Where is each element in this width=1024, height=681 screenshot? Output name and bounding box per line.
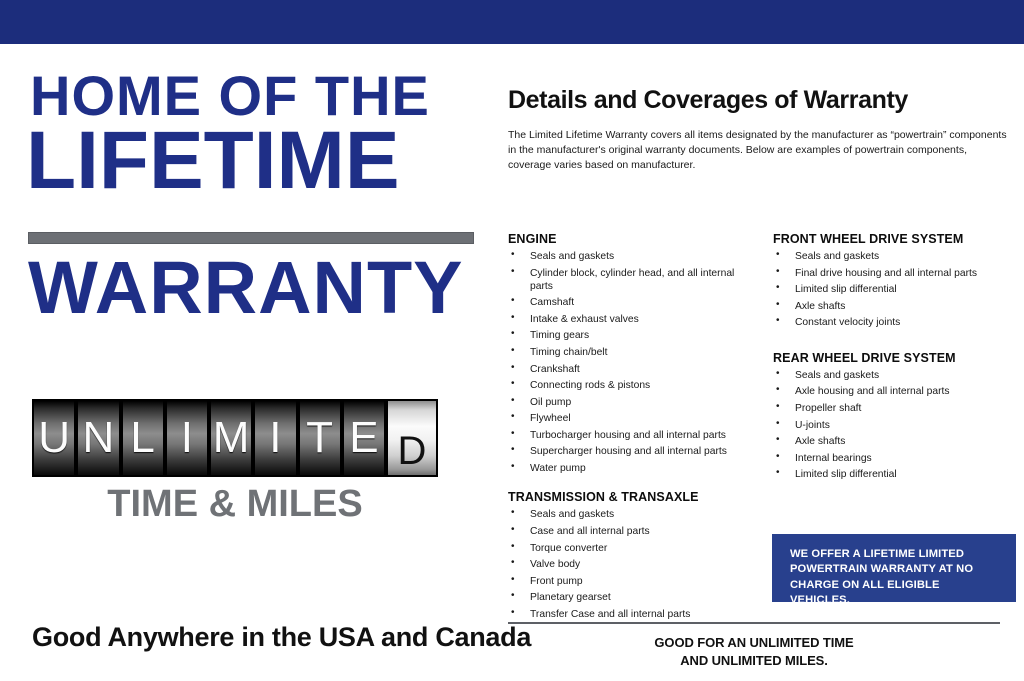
list-item: Seals and gaskets [773, 250, 1021, 263]
odometer-char: E [349, 416, 378, 460]
list-item: Torque converter [508, 542, 758, 555]
list-item: Seals and gaskets [773, 369, 1021, 382]
list-item: Supercharger housing and all internal pa… [508, 445, 758, 458]
callout-text: WE OFFER A LIFETIME LIMITED POWERTRAIN W… [790, 547, 1000, 608]
odometer-cell-rolling: D [386, 401, 438, 475]
section-spacer [773, 333, 1021, 351]
list-item: Water pump [508, 462, 758, 475]
coverage-column-right: FRONT WHEEL DRIVE SYSTEM Seals and gaske… [773, 232, 1021, 485]
odometer-cell: E [342, 401, 386, 475]
odometer-cell: N [76, 401, 120, 475]
section-spacer [508, 478, 758, 490]
section-heading-engine: ENGINE [508, 232, 758, 246]
odometer-cell: U [32, 401, 76, 475]
list-item: Connecting rods & pistons [508, 379, 758, 392]
list-item: U-joints [773, 419, 1021, 432]
top-brand-band [0, 0, 1024, 44]
list-item: Propeller shaft [773, 402, 1021, 415]
list-item: Axle housing and all internal parts [773, 385, 1021, 398]
list-item: Axle shafts [773, 300, 1021, 313]
good-anywhere-tagline: Good Anywhere in the USA and Canada [32, 622, 531, 653]
footer-note-line1: GOOD FOR AN UNLIMITED TIME [508, 634, 1000, 652]
footer-note-line2: AND UNLIMITED MILES. [508, 652, 1000, 670]
odometer-char: D [398, 431, 427, 471]
list-item: Camshaft [508, 296, 758, 309]
hero-headline-line2: LIFETIME [26, 120, 400, 202]
section-list-transmission: Seals and gaskets Case and all internal … [508, 508, 758, 621]
warranty-flyer: HOME OF THE LIFETIME WARRANTY U N L I M … [0, 0, 1024, 681]
list-item: Valve body [508, 558, 758, 571]
odometer-char: U [38, 416, 70, 460]
section-list-fwd: Seals and gaskets Final drive housing an… [773, 250, 1021, 329]
footer-divider-rule [508, 622, 1000, 624]
details-panel: Details and Coverages of Warranty The Li… [500, 44, 1024, 681]
list-item: Turbocharger housing and all internal pa… [508, 429, 758, 442]
section-heading-transmission: TRANSMISSION & TRANSAXLE [508, 490, 758, 504]
hero-panel: HOME OF THE LIFETIME WARRANTY U N L I M … [0, 44, 500, 681]
odometer-cell: I [253, 401, 297, 475]
list-item: Timing gears [508, 329, 758, 342]
odometer-cell: I [165, 401, 209, 475]
callout-box: WE OFFER A LIFETIME LIMITED POWERTRAIN W… [772, 534, 1016, 602]
list-item: Seals and gaskets [508, 508, 758, 521]
list-item: Constant velocity joints [773, 316, 1021, 329]
time-and-miles-label: TIME & MILES [0, 485, 470, 523]
details-title: Details and Coverages of Warranty [508, 86, 908, 115]
odometer-cell: L [121, 401, 165, 475]
list-item: Final drive housing and all internal par… [773, 267, 1021, 280]
odometer-char: M [213, 416, 250, 460]
footer-note: GOOD FOR AN UNLIMITED TIME AND UNLIMITED… [508, 634, 1000, 671]
section-list-rwd: Seals and gaskets Axle housing and all i… [773, 369, 1021, 482]
odometer-char: T [306, 416, 333, 460]
section-heading-rwd: REAR WHEEL DRIVE SYSTEM [773, 351, 1021, 365]
hero-divider-bar [28, 232, 474, 244]
list-item: Limited slip differential [773, 468, 1021, 481]
list-item: Crankshaft [508, 363, 758, 376]
list-item: Timing chain/belt [508, 346, 758, 359]
section-list-engine: Seals and gaskets Cylinder block, cylind… [508, 250, 758, 475]
hero-headline-line3: WARRANTY [28, 251, 464, 325]
section-heading-fwd: FRONT WHEEL DRIVE SYSTEM [773, 232, 1021, 246]
list-item: Intake & exhaust valves [508, 313, 758, 326]
odometer-char: L [130, 416, 154, 460]
list-item: Limited slip differential [773, 283, 1021, 296]
list-item: Flywheel [508, 412, 758, 425]
coverage-column-left: ENGINE Seals and gaskets Cylinder block,… [508, 232, 758, 624]
odometer-cell: M [209, 401, 253, 475]
list-item: Case and all internal parts [508, 525, 758, 538]
list-item: Planetary gearset [508, 591, 758, 604]
list-item: Seals and gaskets [508, 250, 758, 263]
list-item: Cylinder block, cylinder head, and all i… [508, 267, 758, 293]
list-item: Oil pump [508, 396, 758, 409]
odometer-cell: T [298, 401, 342, 475]
odometer-char: N [82, 416, 114, 460]
details-intro-paragraph: The Limited Lifetime Warranty covers all… [508, 128, 1008, 173]
odometer-char: I [181, 416, 193, 460]
list-item: Transfer Case and all internal parts [508, 608, 758, 621]
odometer-char: I [269, 416, 281, 460]
list-item: Axle shafts [773, 435, 1021, 448]
list-item: Internal bearings [773, 452, 1021, 465]
list-item: Front pump [508, 575, 758, 588]
odometer-graphic: U N L I M I T E D [32, 399, 438, 477]
